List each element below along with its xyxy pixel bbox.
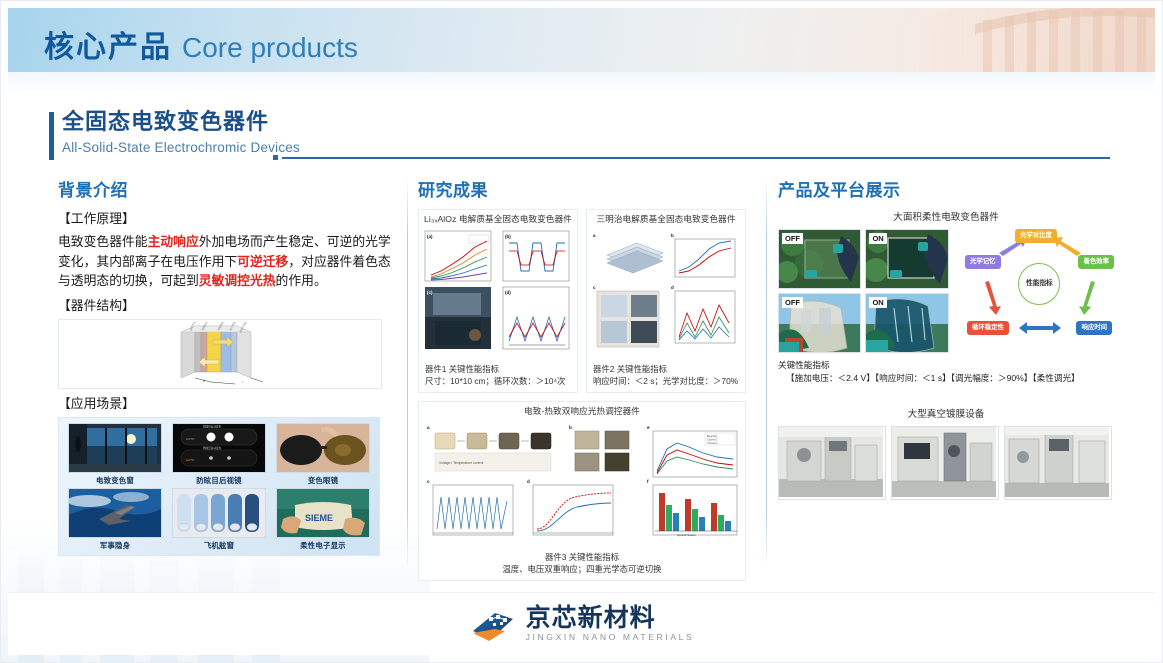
header-underlay [8,72,1155,94]
vacuum-coater-photo-2 [892,427,996,497]
company-logo-text: 京芯新材料 JINGXIN NANO MATERIALS [526,605,695,643]
jingxin-logo-icon [469,603,517,645]
section-title-en: All-Solid-State Electrochromic Devices [62,138,300,158]
equipment-photo-1 [778,426,886,500]
wheel-tag-coloration-efficiency: 着色效率 [1078,255,1114,269]
metric-title: 器件1 关键性能指标 [425,364,571,376]
app-thumbnail-mirror: AUTO AUTO 防眩目自动变色 防眩目自动变色 [172,423,266,473]
header-title-cn: 核心产品 [44,31,172,64]
wheel-tag-optical-contrast: 光学对比度 [1015,229,1057,243]
svg-text:(b): (b) [505,234,511,239]
header-title: 核心产品Core products [44,22,358,66]
para-highlight-2: 可逆迁移 [237,254,288,269]
app-item: 电致变色窗 [65,423,165,486]
research-card-1: Li₃ₓAlOz 电解质基全固态电致变色器件 (a) [418,209,578,393]
app-caption: 飞机舷窗 [204,540,234,551]
research-card-2-figure: a b c [587,227,745,360]
equipment-photo-2 [891,426,999,500]
metric-body: 温度、电压双重响应；四重光学态可逆切换 [425,564,739,576]
wheel-center-node: 性能指标 [1018,263,1060,305]
header-title-en: Core products [182,32,358,63]
metric-title: 器件3 关键性能指标 [425,552,739,564]
device-stack-diagram: 透明导电层 电致变色层 电解质层 离子存储层 透明导电层 e⁻ ⎓ [135,322,305,386]
aircraft-window-photo [173,489,265,537]
structure-label: 【器件结构】 [58,296,400,315]
research-card-2-metric: 器件2 关键性能指标 响应时间：＜2 s；光学对比度：＞70% [587,360,745,392]
research-card-3: 电致-热致双响应光热调控器件 a Voltage / Temperature c… [418,401,746,581]
product-photo-on-2: ON [865,293,948,353]
research-card-3-metric: 器件3 关键性能指标 温度、电压双重响应；四重光学态可逆切换 [419,548,745,580]
key-metrics-title: 关键性能指标 [778,359,1114,372]
brand-name-cn: 京芯新材料 [526,605,695,631]
research-card-1-title: Li₃ₓAlOz 电解质基全固态电致变色器件 [419,210,577,227]
device1-figure-panels: (a) (b) [419,227,577,355]
app-item: AUTO AUTO 防眩目自动变色 防眩目自动变色 防眩目后视镜 [169,423,269,486]
research-card-1-metric: 器件1 关键性能指标 尺寸：10*10 cm；循环次数：＞10⁴次 [419,360,577,392]
research-card-2: 三明治电解质基全固态电致变色器件 a b [586,209,746,393]
wheel-tag-optical-memory: 光学记忆 [965,255,1001,269]
state-badge-on: ON [869,233,886,244]
svg-text:Voltage / Temperature control: Voltage / Temperature control [439,461,483,465]
device3-figure-panels: a Voltage / Temperature control b [419,419,745,543]
svg-text:Optical States: Optical States [677,533,696,537]
svg-text:(c): (c) [427,290,433,295]
slide-header: 核心产品Core products [8,8,1155,72]
mid-column-title: 研究成果 [418,176,754,201]
principle-label: 【工作原理】 [58,209,400,228]
app-thumbnail-glasses [276,423,370,473]
app-thumbnail-flex-display: SIEME [276,488,370,538]
svg-text:a: a [427,425,430,430]
principle-paragraph: 电致变色器件能主动响应外加电场而产生稳定、可逆的光学变化，其内部离子在电压作用下… [58,232,400,291]
colonnade-decoration [875,8,1155,72]
wheel-tag-cycling-stability: 循环稳定性 [967,321,1009,335]
research-card-3-title: 电致-热致双响应光热调控器件 [419,402,745,419]
svg-text:Colored-2: Colored-2 [707,442,718,445]
slide-root: 核心产品Core products 全固态电致变色器件 All-Solid-St… [0,0,1163,663]
photochromic-glasses-photo [277,424,369,472]
column-products-platform: 产品及平台展示 大面积柔性电致变色器件 OFF [778,176,1114,500]
state-badge-off: OFF [782,297,803,308]
application-scenarios-grid: 电致变色窗 AUTO AUTO 防眩目自动变色 防眩目 [58,417,380,556]
state-badge-off: OFF [782,233,803,244]
left-column-title: 背景介绍 [58,176,400,201]
metric-body: 响应时间：＜2 s；光学对比度：＞70% [593,376,739,388]
research-card-3-figure: a Voltage / Temperature control b [419,419,745,548]
slide-footer: 京芯新材料 JINGXIN NANO MATERIALS [8,592,1155,655]
electrochromic-window-photo [69,424,161,472]
app-caption: 柔性电子显示 [300,540,346,551]
right-column-title: 产品及平台展示 [778,176,1114,201]
product-photo-on-1: ON [865,229,948,289]
app-item: 军事隐身 [65,488,165,551]
svg-text:SIEME: SIEME [305,513,333,523]
column-divider-2 [766,178,767,568]
vacuum-coater-photo-3 [1005,427,1109,497]
product-photo-off-2: OFF [778,293,861,353]
equipment-photo-row [778,426,1114,500]
section-title-cn: 全固态电致变色器件 [62,108,300,136]
app-caption: 军事隐身 [100,540,130,551]
equipment-caption: 大型真空镀膜设备 [778,406,1114,420]
app-caption: 电致变色窗 [96,475,134,486]
para-part-4: 的作用。 [276,273,327,288]
para-highlight-3: 灵敏调控光热 [199,273,276,288]
product-photo-off-1: OFF [778,229,861,289]
app-caption: 防眩目后视镜 [196,475,242,486]
military-stealth-photo [69,489,161,537]
performance-metrics-wheel: 光学对比度 光学记忆 着色效率 循环稳定性 响应时间 性能指标 [965,229,1114,339]
svg-text:d: d [671,285,674,290]
section-divider-rule [282,157,1110,159]
device2-figure-panels: a b c [587,227,745,355]
app-thumbnail-stealth [68,488,162,538]
para-part-1: 电致变色器件能 [58,234,148,249]
para-highlight-1: 主动响应 [148,234,199,249]
research-card-row: Li₃ₓAlOz 电解质基全固态电致变色器件 (a) [418,209,754,393]
research-card-1-figure: (a) (b) [419,227,577,360]
equipment-photo-3 [1004,426,1112,500]
svg-text:(a): (a) [427,234,433,239]
app-thumbnail-aircraft-window [172,488,266,538]
app-thumbnail-window [68,423,162,473]
state-badge-on: ON [869,297,886,308]
app-item: 飞机舷窗 [169,488,269,551]
app-caption: 变色眼镜 [308,475,338,486]
section-title: 全固态电致变色器件 All-Solid-State Electrochromic… [62,108,300,158]
svg-text:AUTO: AUTO [186,458,195,462]
column-background: 背景介绍 【工作原理】 电致变色器件能主动响应外加电场而产生稳定、可逆的光学变化… [58,176,400,556]
svg-text:(d): (d) [505,290,511,295]
svg-text:c: c [427,479,430,484]
company-logo: 京芯新材料 JINGXIN NANO MATERIALS [469,603,695,645]
research-card-2-title: 三明治电解质基全固态电致变色器件 [587,210,745,227]
svg-text:e⁻: e⁻ [203,379,207,383]
column-research-results: 研究成果 Li₃ₓAlOz 电解质基全固态电致变色器件 (a) [418,176,754,581]
svg-text:b: b [569,425,572,430]
device-structure-figure: 透明导电层 电致变色层 电解质层 离子存储层 透明导电层 e⁻ ⎓ [58,319,382,389]
key-metrics-body: 【施加电压：＜2.4 V】【响应时间：＜1 s】【调光幅度：＞90%】【柔性调光… [778,372,1114,385]
svg-text:防眩目自动变色: 防眩目自动变色 [203,424,222,428]
column-divider-1 [407,178,408,568]
svg-text:⎓: ⎓ [241,380,244,384]
metric-body: 尺寸：10*10 cm；循环次数：＞10⁴次 [425,376,571,388]
metric-title: 器件2 关键性能指标 [593,364,739,376]
svg-text:防眩目自动变色: 防眩目自动变色 [203,446,222,450]
wheel-tag-response-time: 响应时间 [1076,321,1112,335]
product-photo-grid: OFF ON [778,229,949,353]
svg-text:AUTO: AUTO [186,437,195,441]
section-title-bar [49,112,54,160]
app-item: 变色眼镜 [273,423,373,486]
applications-label: 【应用场景】 [58,394,400,413]
vacuum-coater-photo-1 [779,427,883,497]
svg-text:d: d [527,479,530,484]
brand-name-en: JINGXIN NANO MATERIALS [526,631,695,643]
svg-text:b: b [671,233,674,238]
flexible-device-caption: 大面积柔性电致变色器件 [778,209,1114,223]
flexible-display-photo: SIEME [277,489,369,537]
key-metrics-block: 关键性能指标 【施加电压：＜2.4 V】【响应时间：＜1 s】【调光幅度：＞90… [778,359,1114,384]
app-item: SIEME 柔性电子显示 [273,488,373,551]
anti-glare-mirror-photo: AUTO AUTO 防眩目自动变色 防眩目自动变色 [173,424,265,472]
svg-text:e: e [647,425,650,430]
